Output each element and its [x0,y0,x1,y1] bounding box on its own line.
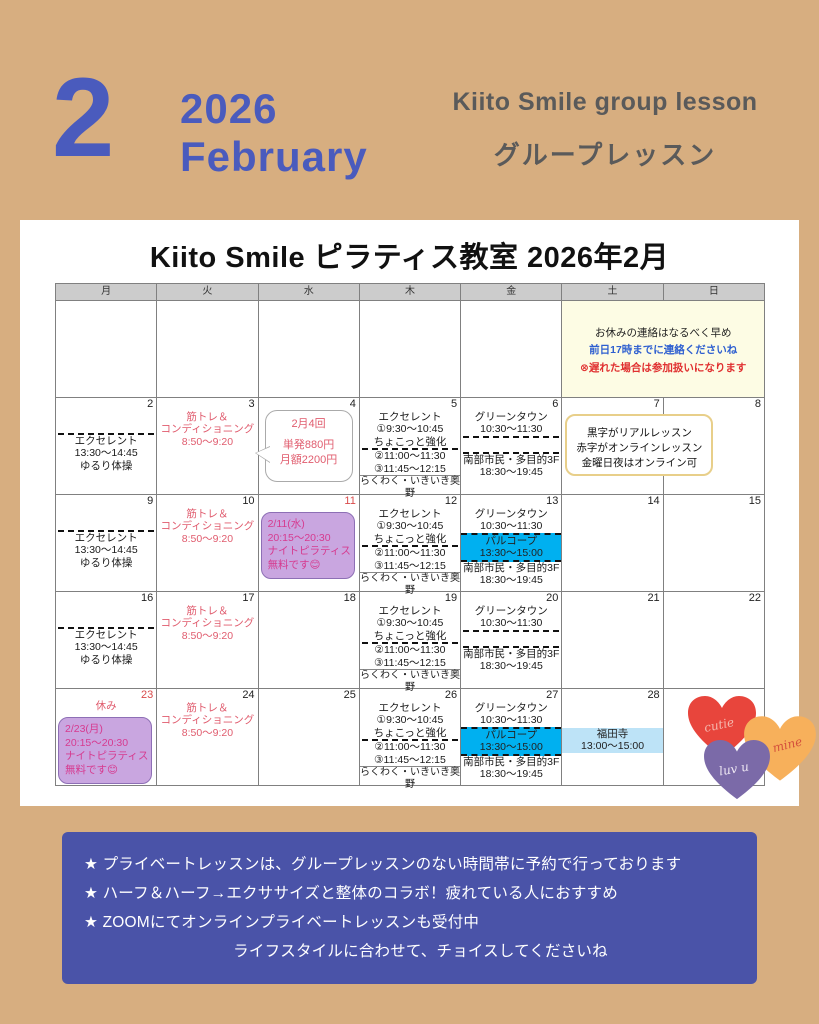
class-line6: らくわく・いきいき奥野 [360,766,460,791]
week-row-3: 9 エクセレント 13:30〜14:45 ゆるり体操 10 筋トレ＆ コンディシ… [56,495,765,592]
palcoop-time: 13:30〜15:00 [461,547,561,559]
weekday-sat: 土 [562,284,663,301]
class-line1: エクセレント [360,411,460,423]
day-cell-21[interactable]: 21 [562,592,663,689]
day-number: 27 [546,690,558,701]
night-pilates-box-11: 2/11(水) 20:15〜20:30 ナイトピラティス 無料です😊 [261,512,355,579]
class-line1: エクセレント [360,702,460,714]
class-line2: ①9:30〜10:45 [360,714,460,726]
year-label: 2026 [180,85,368,133]
callout-line3: 月額2200円 [266,453,352,468]
class-line3: ちょこっと強化 [360,727,460,739]
class-line1: 筋トレ＆ [157,605,257,617]
class-line4: ②11:00〜11:30 [360,741,460,753]
class-line2: 10:30〜11:30 [461,714,561,726]
day-cell-5[interactable]: 5 エクセレント ①9:30〜10:45 ちょこっと強化 ②11:00〜11:3… [359,398,460,495]
title-english: Kiito Smile group lesson [410,88,800,117]
week-row-5: 23 休み 2/23(月) 20:15〜20:30 ナイトピラティス 無料です😊… [56,689,765,786]
absence-note-line2: 前日17時までに連絡くださいね [562,342,764,359]
day-cell-6[interactable]: 6 グリーンタウン 10:30〜11:30 南部市民・多目的3F 18:30〜1… [461,398,562,495]
class-line1: グリーンタウン [461,702,561,714]
class-line1: グリーンタウン [461,411,561,423]
day-number: 5 [451,399,457,410]
absence-note-box: お休みの連絡はなるべく早め 前日17時までに連絡くださいね ⊗遅れた場合は参加扱… [562,301,765,398]
night-pilates-line3: ナイトピラティス [268,545,354,559]
class-line3: 8:50〜9:20 [157,436,257,448]
absence-note-line3: ⊗遅れた場合は参加扱いになります [562,360,764,377]
day-number: 20 [546,593,558,604]
day-cell-12[interactable]: 12 エクセレント ①9:30〜10:45 ちょこっと強化 ②11:00〜11:… [359,495,460,592]
day-cell-28[interactable]: 28 福田寺 13:00〜15:00 [562,689,663,786]
day-number: 28 [647,690,659,701]
class-extra: ゆるり体操 [56,557,156,569]
night-pilates-line1: 2/11(水) [268,518,354,532]
class-time: 13:30〜14:45 [56,641,156,653]
callout-tail-icon [256,447,270,462]
class-line2: コンディショニング [157,423,257,435]
price-callout: 2月4回 単発880円 月額2200円 [265,410,353,482]
day-cell-2[interactable]: 2 エクセレント 13:30〜14:45 ゆるり体操 [56,398,157,495]
day-cell-19[interactable]: 19 エクセレント ①9:30〜10:45 ちょこっと強化 ②11:00〜11:… [359,592,460,689]
day-number: 16 [141,593,153,604]
day-number: 17 [242,593,254,604]
class-line5: ③11:45〜12:15 [360,560,460,572]
class-line2: コンディショニング [157,714,257,726]
class-line3: 8:50〜9:20 [157,727,257,739]
weekday-wed: 水 [258,284,359,301]
day-cell-13[interactable]: 13 グリーンタウン 10:30〜11:30 パルコープ 13:30〜15:00… [461,495,562,592]
day-cell-3[interactable]: 3 筋トレ＆ コンディショニング 8:50〜9:20 [157,398,258,495]
class-line2: 10:30〜11:30 [461,520,561,532]
class-line1: エクセレント [360,508,460,520]
day-number: 2 [147,399,153,410]
week-row-1: お休みの連絡はなるべく早め 前日17時までに連絡くださいね ⊗遅れた場合は参加扱… [56,301,765,398]
day-number: 10 [242,496,254,507]
heart-sticker-luvu: luv u [702,738,772,802]
day-number: 3 [248,399,254,410]
class-line2: 10:30〜11:30 [461,423,561,435]
info-panel: ★ プライベートレッスンは、グループレッスンのない時間帯に予約で行っております … [62,832,757,984]
heart-stickers-group: cutie be mine luv u [680,690,819,815]
day-cell-22[interactable]: 22 [663,592,764,689]
class-line2: ①9:30〜10:45 [360,520,460,532]
weekday-thu: 木 [359,284,460,301]
day-number: 14 [647,496,659,507]
class-line3: 8:50〜9:20 [157,533,257,545]
day-cell-27[interactable]: 27 グリーンタウン 10:30〜11:30 パルコープ 13:30〜15:00… [461,689,562,786]
class-line1: 筋トレ＆ [157,411,257,423]
day-cell-26[interactable]: 26 エクセレント ①9:30〜10:45 ちょこっと強化 ②11:00〜11:… [359,689,460,786]
class-line2: コンディショニング [157,617,257,629]
palcoop-band: パルコープ 13:30〜15:00 [461,533,561,562]
day-cell-empty [461,301,562,398]
info-line-3: ★ ZOOMにてオンラインプライベートレッスンも受付中 [84,910,757,932]
month-name-label: February [180,133,368,181]
night-pilates-line4: 無料です😊 [65,764,151,778]
night-pilates-line2: 20:15〜20:30 [268,532,354,546]
class-line3: 8:50〜9:20 [157,630,257,642]
weekday-fri: 金 [461,284,562,301]
class-line3: ちょこっと強化 [360,533,460,545]
class-line3: ちょこっと強化 [360,630,460,642]
class-time: 13:30〜14:45 [56,544,156,556]
class-line2: 10:30〜11:30 [461,617,561,629]
day-number: 4 [350,399,356,410]
fukudenji-name: 福田寺 [562,728,662,740]
class-line4: 18:30〜19:45 [461,660,561,672]
class-line1: グリーンタウン [461,508,561,520]
holiday-label: 休み [56,700,156,712]
week-row-2: 2 エクセレント 13:30〜14:45 ゆるり体操 3 筋トレ＆ コンディショ… [56,398,765,495]
week-row-4: 16 エクセレント 13:30〜14:45 ゆるり体操 17 筋トレ＆ コンディ… [56,592,765,689]
day-cell-18[interactable]: 18 [258,592,359,689]
day-cell-23[interactable]: 23 休み 2/23(月) 20:15〜20:30 ナイトピラティス 無料です😊 [56,689,157,786]
callout-line1: 2月4回 [266,417,352,432]
class-line3: 南部市民・多目的3F [461,756,561,768]
class-line4: ②11:00〜11:30 [360,450,460,462]
class-line5: ③11:45〜12:15 [360,657,460,669]
day-cell-empty [56,301,157,398]
night-pilates-line2: 20:15〜20:30 [65,737,151,751]
night-pilates-line1: 2/23(月) [65,723,151,737]
fukudenji-time: 13:00〜15:00 [562,740,662,752]
class-line1: グリーンタウン [461,605,561,617]
day-cell-17[interactable]: 17 筋トレ＆ コンディショニング 8:50〜9:20 [157,592,258,689]
calendar-title: Kiito Smile ピラティス教室 2026年2月 [20,234,799,276]
day-number: 7 [654,399,660,410]
fukudenji-band: 福田寺 13:00〜15:00 [562,728,662,753]
class-line3: ちょこっと強化 [360,436,460,448]
day-number: 18 [344,593,356,604]
palcoop-band: パルコープ 13:30〜15:00 [461,727,561,756]
class-line5: ③11:45〜12:15 [360,463,460,475]
class-line3: 南部市民・多目的3F [461,562,561,574]
night-pilates-box-23: 2/23(月) 20:15〜20:30 ナイトピラティス 無料です😊 [58,717,152,784]
class-extra: ゆるり体操 [56,460,156,472]
class-line1: 筋トレ＆ [157,508,257,520]
class-name: エクセレント [56,629,156,641]
day-cell-15[interactable]: 15 [663,495,764,592]
day-cell-4[interactable]: 4 2月4回 単発880円 月額2200円 [258,398,359,495]
title-japanese: グループレッスン [410,135,800,172]
day-number: 13 [546,496,558,507]
day-cell-8[interactable]: 8 [663,398,764,495]
weekday-header-row: 月 火 水 木 金 土 日 [56,284,765,301]
year-month-block: 2026 February [180,85,368,182]
class-line2: ①9:30〜10:45 [360,423,460,435]
page-header: 2 2026 February Kiito Smile group lesson… [0,0,819,215]
day-number: 19 [445,593,457,604]
day-cell-7[interactable]: 7 黒字がリアルレッスン 赤字がオンラインレッスン 金曜日夜はオンライン可 [562,398,663,495]
month-number: 2 [52,62,112,174]
calendar-table: 月 火 水 木 金 土 日 お休みの連絡はなるべく早め 前日1 [55,283,765,786]
class-line4: 18:30〜19:45 [461,574,561,586]
day-number: 8 [755,399,761,410]
weekday-tue: 火 [157,284,258,301]
class-line4: 18:30〜19:45 [461,466,561,478]
class-line3: 南部市民・多目的3F [461,648,561,660]
class-line2: ①9:30〜10:45 [360,617,460,629]
class-line1: 筋トレ＆ [157,702,257,714]
weekday-sun: 日 [663,284,764,301]
day-cell-empty [157,301,258,398]
day-cell-24[interactable]: 24 筋トレ＆ コンディショニング 8:50〜9:20 [157,689,258,786]
day-number: 6 [552,399,558,410]
info-line-4: ライフスタイルに合わせて、チョイスしてくださいね [62,939,757,961]
class-extra: ゆるり体操 [56,654,156,666]
day-number: 11 [344,496,355,507]
day-cell-11[interactable]: 11 2/11(水) 20:15〜20:30 ナイトピラティス 無料です😊 [258,495,359,592]
day-number: 26 [445,690,457,701]
class-line4: ②11:00〜11:30 [360,547,460,559]
class-name: エクセレント [56,435,156,447]
day-cell-25[interactable]: 25 [258,689,359,786]
day-number: 24 [242,690,254,701]
day-cell-14[interactable]: 14 [562,495,663,592]
day-cell-16[interactable]: 16 エクセレント 13:30〜14:45 ゆるり体操 [56,592,157,689]
info-line-2: ★ ハーフ＆ハーフ→エクササイズと整体のコラボ！疲れている人におすすめ [84,881,757,903]
day-cell-10[interactable]: 10 筋トレ＆ コンディショニング 8:50〜9:20 [157,495,258,592]
day-cell-empty [258,301,359,398]
class-time: 13:30〜14:45 [56,447,156,459]
callout-line2: 単発880円 [266,438,352,453]
weekday-mon: 月 [56,284,157,301]
class-line1: エクセレント [360,605,460,617]
day-number: 21 [647,593,659,604]
palcoop-name: パルコープ [461,535,561,547]
day-cell-9[interactable]: 9 エクセレント 13:30〜14:45 ゆるり体操 [56,495,157,592]
class-line5: ③11:45〜12:15 [360,754,460,766]
absence-note-line1: お休みの連絡はなるべく早め [562,325,764,342]
day-cell-20[interactable]: 20 グリーンタウン 10:30〜11:30 南部市民・多目的3F 18:30〜… [461,592,562,689]
day-number: 12 [445,496,457,507]
palcoop-time: 13:30〜15:00 [461,741,561,753]
info-line-1: ★ プライベートレッスンは、グループレッスンのない時間帯に予約で行っております [84,852,757,874]
day-number: 22 [749,593,761,604]
night-pilates-line3: ナイトピラティス [65,750,151,764]
day-number: 15 [749,496,761,507]
class-line4: 18:30〜19:45 [461,768,561,780]
day-number: 9 [147,496,153,507]
class-line2: コンディショニング [157,520,257,532]
class-line4: ②11:00〜11:30 [360,644,460,656]
day-cell-empty [359,301,460,398]
palcoop-name: パルコープ [461,729,561,741]
night-pilates-line4: 無料です😊 [268,559,354,573]
class-name: エクセレント [56,532,156,544]
day-number: 25 [344,690,356,701]
class-line3: 南部市民・多目的3F [461,454,561,466]
